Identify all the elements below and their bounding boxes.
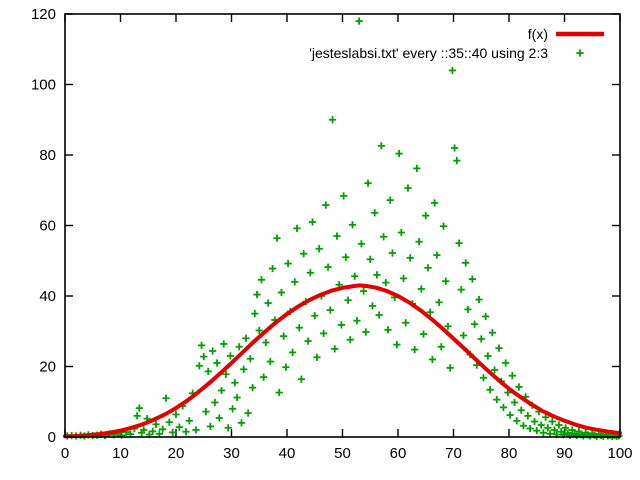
x-tick-label: 80 bbox=[501, 445, 518, 462]
chart-canvas: 020406080100120 0102030405060708090100 f… bbox=[0, 0, 640, 480]
x-tick-label: 100 bbox=[607, 445, 632, 462]
y-tick-label: 100 bbox=[31, 77, 56, 94]
x-tick-label: 0 bbox=[61, 445, 69, 462]
y-tick-label: 120 bbox=[31, 6, 56, 23]
chart-background bbox=[0, 0, 640, 480]
y-tick-label: 40 bbox=[39, 288, 56, 305]
x-tick-label: 50 bbox=[334, 445, 351, 462]
x-tick-label: 70 bbox=[445, 445, 462, 462]
x-tick-label: 10 bbox=[112, 445, 129, 462]
x-tick-label: 40 bbox=[279, 445, 296, 462]
y-tick-label: 0 bbox=[48, 429, 56, 446]
gnuplot-chart: 020406080100120 0102030405060708090100 f… bbox=[0, 0, 640, 480]
legend-label: f(x) bbox=[528, 26, 548, 42]
y-tick-label: 60 bbox=[39, 218, 56, 235]
x-tick-label: 90 bbox=[556, 445, 573, 462]
legend-label: 'jesteslabsi.txt' every ::35::40 using 2… bbox=[309, 45, 548, 61]
x-tick-label: 20 bbox=[168, 445, 185, 462]
x-tick-label: 30 bbox=[223, 445, 240, 462]
y-tick-label: 20 bbox=[39, 359, 56, 376]
y-tick-label: 80 bbox=[39, 147, 56, 164]
x-tick-label: 60 bbox=[390, 445, 407, 462]
